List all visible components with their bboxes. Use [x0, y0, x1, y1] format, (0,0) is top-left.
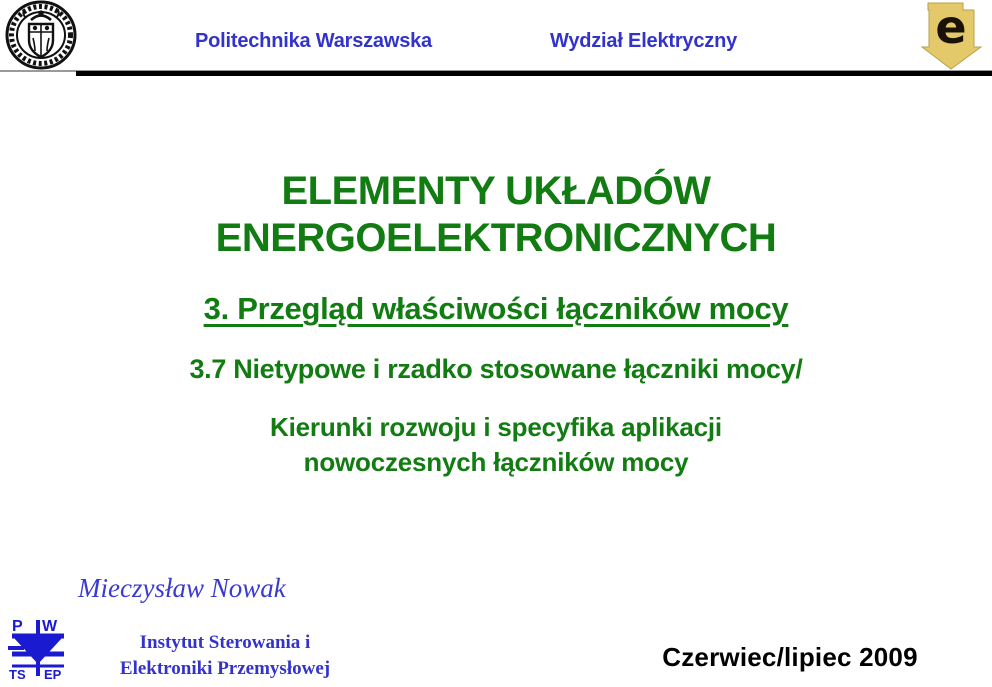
header-divider-thick	[76, 71, 992, 76]
university-name: Politechnika Warszawska	[195, 30, 550, 53]
main-title-line-1: ELEMENTY UKŁADÓW	[0, 168, 992, 215]
subject-heading-line-1: Kierunki rozwoju i specyfika aplikacji	[0, 410, 992, 445]
author-name: Mieczysław Nowak	[78, 573, 286, 604]
institute-name: Instytut Sterowania i Elektroniki Przemy…	[80, 630, 370, 682]
main-title-line-2: ENERGOELEKTRONICZNYCH	[0, 215, 992, 262]
isep-thyristor-logo-icon: P W TS EP	[4, 614, 72, 682]
down-arrow-e-logo-icon: e	[918, 1, 984, 71]
svg-text:P: P	[12, 618, 23, 635]
section-heading: 3.7 Nietypowe i rzadko stosowane łącznik…	[0, 352, 992, 386]
svg-text:W: W	[42, 618, 58, 635]
header-titles: Politechnika Warszawska Wydział Elektryc…	[195, 30, 835, 53]
subject-heading-line-2: nowoczesnych łączników mocy	[0, 445, 992, 480]
institute-name-line-2: Elektroniki Przemysłowej	[80, 656, 370, 682]
faculty-name: Wydział Elektryczny	[550, 30, 737, 53]
main-title-block: ELEMENTY UKŁADÓW ENERGOELEKTRONICZNYCH	[0, 168, 992, 262]
institute-name-line-1: Instytut Sterowania i	[80, 630, 370, 656]
pw-seal-icon	[4, 0, 78, 74]
e-logo-letter: e	[918, 1, 984, 53]
chapter-heading: 3. Przegląd właściwości łączników mocy	[0, 290, 992, 328]
svg-text:EP: EP	[44, 667, 62, 682]
svg-text:TS: TS	[9, 667, 26, 682]
slide-header: Politechnika Warszawska Wydział Elektryc…	[0, 0, 992, 78]
presentation-date: Czerwiec/lipiec 2009	[600, 642, 980, 673]
subject-heading: Kierunki rozwoju i specyfika aplikacji n…	[0, 410, 992, 480]
